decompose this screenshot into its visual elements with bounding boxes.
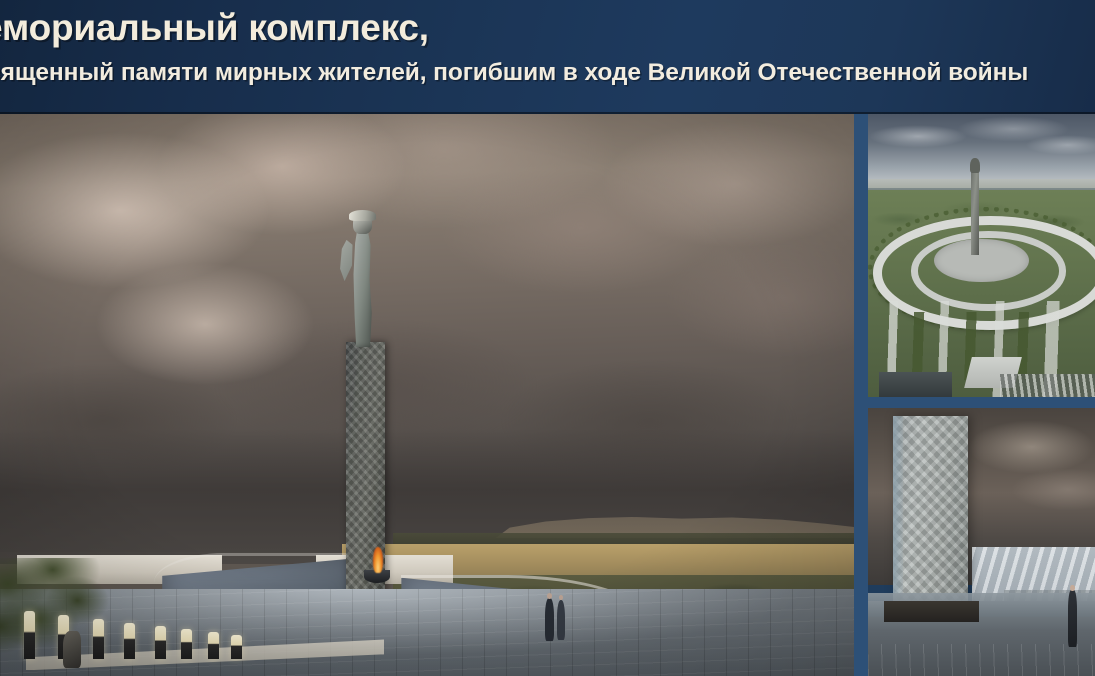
bollard-light [208, 632, 219, 659]
statue-headscarf [349, 210, 377, 221]
aerial-monument-column [971, 168, 979, 256]
aerial-clouds [868, 114, 1095, 176]
bollard-light [24, 611, 35, 659]
main-render-image [0, 114, 854, 676]
page-subtitle: вященный памяти мирных жителей, погибшим… [0, 56, 1028, 90]
aerial-monument-statue [970, 158, 980, 174]
visitor-figure [545, 598, 554, 641]
bollard-light [231, 635, 242, 659]
aerial-view-image [868, 114, 1095, 397]
bollard-light [181, 629, 192, 659]
bollard-light [93, 619, 104, 659]
mourning-mother-statue [338, 210, 386, 348]
slide-header-banner: емориальный комплекс, вященный памяти ми… [0, 0, 1095, 114]
visitor-figure [557, 600, 566, 640]
slide-screen: емориальный комплекс, вященный памяти ми… [0, 0, 1095, 676]
statue-body [349, 226, 376, 347]
closeup-plinth-base [884, 601, 979, 622]
closeup-visitor [1068, 590, 1077, 646]
aerial-central-plaza [934, 239, 1029, 283]
page-title: емориальный комплекс, [0, 3, 429, 53]
bollard-light [124, 623, 135, 659]
pedestal-closeup-image [868, 408, 1095, 676]
statue-arm [340, 240, 352, 281]
closeup-visitor-head [1070, 585, 1075, 592]
seated-visitor [63, 631, 81, 668]
visitor-head [547, 593, 552, 599]
bollard-light [155, 626, 166, 659]
aerial-building [879, 372, 952, 397]
image-panel-area [0, 114, 1095, 676]
closeup-pavers [868, 644, 1095, 676]
aerial-steps [1000, 374, 1095, 397]
